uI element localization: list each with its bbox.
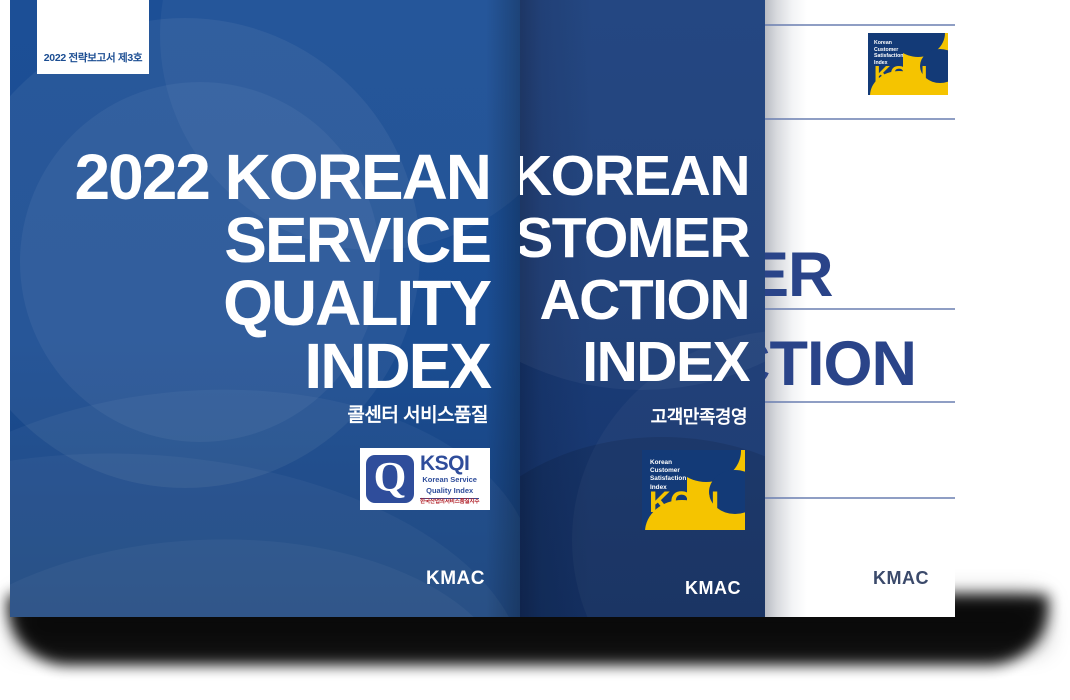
right-book-rule [765,118,955,120]
book-cover-right[interactable]: Korean Customer Satisfaction Index KCSI … [765,0,955,617]
ksqi-english-line-2: Quality Index [420,487,479,496]
middle-book-title-line-1: KOREAN [512,148,749,205]
ksqi-text-block: KSQI Korean Service Quality Index 한국산업의서… [420,453,479,505]
right-book-rule [765,497,955,499]
kcsi-line-3: Satisfaction [650,475,686,483]
middle-book-subtitle: 고객만족경영 [651,403,747,429]
report-issue-badge: 2022 전략보고서 제3호 [37,0,149,74]
left-book-title-line-4: INDEX [304,334,490,398]
left-book-publisher-logo: KMAC [426,568,485,590]
middle-book-title-line-4: INDEX [582,334,749,391]
kcsi-line-2: Customer [650,467,686,475]
report-issue-label: 2022 전략보고서 제3호 [44,50,142,65]
ksqi-english-line-1: Korean Service [420,476,479,485]
middle-book-kcsi-logo-holder: Korean Customer Satisfaction Index KCSI [642,450,745,530]
book-cover-left[interactable]: 2022 전략보고서 제3호 2022 KOREAN SERVICE QUALI… [10,0,520,617]
kcsi-icon: Korean Customer Satisfaction Index KCSI [642,450,745,530]
kcsi-icon: Korean Customer Satisfaction Index KCSI [868,33,948,95]
left-book-title-line-1: 2022 KOREAN [75,145,491,209]
book-covers-scene: Korean Customer Satisfaction Index KCSI … [0,0,1070,700]
kcsi-acronym: KCSI [649,488,719,518]
left-book-edge-shading [486,0,520,617]
kcsi-line-2: Customer [874,47,903,54]
kcsi-acronym: KCSI [874,63,927,86]
right-book-kcsi-logo-holder: Korean Customer Satisfaction Index KCSI [868,33,948,95]
left-book-subtitle: 콜센터 서비스품질 [347,400,488,427]
middle-book-publisher-logo: KMAC [685,578,741,599]
right-book-title-line-2: CTION [765,333,916,396]
right-book-rule [765,401,955,403]
right-book-publisher-logo: KMAC [873,568,929,589]
middle-book-title-line-2: STOMER [515,210,749,267]
book-cover-middle[interactable]: KOREAN STOMER ACTION INDEX 고객만족경영 Korean… [512,0,765,617]
ksqi-acronym: KSQI [420,453,479,474]
ksqi-icon: KSQI Korean Service Quality Index 한국산업의서… [360,448,490,510]
right-book-title-line-1: ER [765,244,833,307]
kcsi-line-1: Korean [874,40,903,47]
ksqi-korean-line: 한국산업의서비스품질지수 [420,498,479,506]
left-book-title-line-2: SERVICE [224,208,490,272]
middle-book-title-line-3: ACTION [540,272,749,329]
ksqi-q-mark-icon [366,455,414,503]
kcsi-line-3: Satisfaction [874,53,903,60]
left-book-title-line-3: QUALITY [223,271,490,335]
kcsi-line-1: Korean [650,459,686,467]
right-book-rule [765,24,955,26]
left-book-ksqi-logo-holder: KSQI Korean Service Quality Index 한국산업의서… [360,448,490,510]
